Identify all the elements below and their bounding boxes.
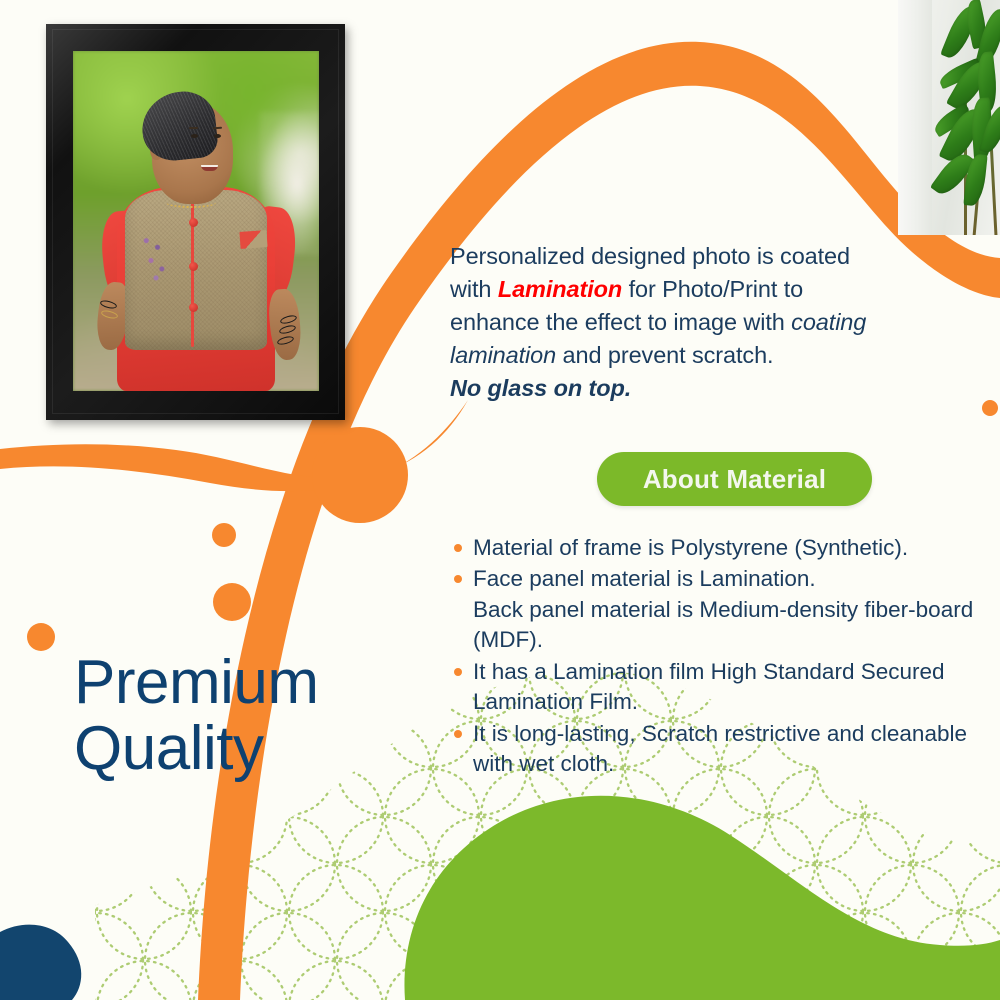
list-item: It has a Lamination film High Standard S… (450, 657, 995, 718)
about-material-label: About Material (643, 464, 826, 495)
page-title-line-1: Premium (74, 648, 319, 717)
page-title: Premium Quality (74, 650, 414, 781)
coating-italic: coating (791, 309, 866, 335)
no-glass-note: No glass on top. (450, 375, 631, 401)
indoor-plant-photo (898, 0, 1000, 235)
plant-curtain (898, 0, 932, 235)
list-item-text: It is long-lasting, Scratch restrictive … (473, 721, 967, 776)
orange-dot-1 (212, 523, 236, 547)
list-item: Material of frame is Polystyrene (Synthe… (450, 533, 995, 563)
child-eye-left (191, 134, 198, 138)
list-item-text: Material of frame is Polystyrene (Synthe… (473, 535, 908, 560)
list-item-continuation: Back panel material is Medium-density fi… (473, 595, 995, 656)
para-line-3-prefix: enhance the effect to image with (450, 309, 791, 335)
orange-dot-2 (213, 583, 251, 621)
list-item-text: It has a Lamination film High Standard S… (473, 659, 945, 714)
photo-content (73, 51, 319, 391)
framed-child-portrait (46, 24, 345, 420)
vest-pocket-square (240, 230, 268, 249)
material-specs-list: Material of frame is Polystyrene (Synthe… (450, 533, 995, 781)
product-info-graphic: Personalized designed photo is coated wi… (0, 0, 1000, 1000)
para-line-2-prefix: with (450, 276, 498, 302)
vest-button-1 (189, 218, 198, 227)
child-figure (73, 51, 319, 391)
page-title-line-2: Quality (74, 714, 263, 783)
lamination-highlight: Lamination (498, 276, 622, 302)
para-line-2-suffix: for Photo/Print to (622, 276, 803, 302)
list-item-text: Face panel material is Lamination. (473, 566, 816, 591)
about-material-badge[interactable]: About Material (597, 452, 872, 506)
list-item: Face panel material is Lamination. Back … (450, 564, 995, 655)
para-line-1: Personalized designed photo is coated (450, 243, 850, 269)
orange-circle-large (312, 427, 408, 523)
vest-button-2 (189, 262, 198, 271)
orange-dot-3 (27, 623, 55, 651)
orange-dot-4 (982, 400, 998, 416)
lamination-italic: lamination (450, 342, 556, 368)
child-brow-left (189, 127, 198, 129)
para-line-4-suffix: and prevent scratch. (556, 342, 773, 368)
vest-button-3 (189, 303, 198, 312)
lamination-description: Personalized designed photo is coated wi… (450, 240, 950, 405)
list-item: It is long-lasting, Scratch restrictive … (450, 719, 995, 780)
